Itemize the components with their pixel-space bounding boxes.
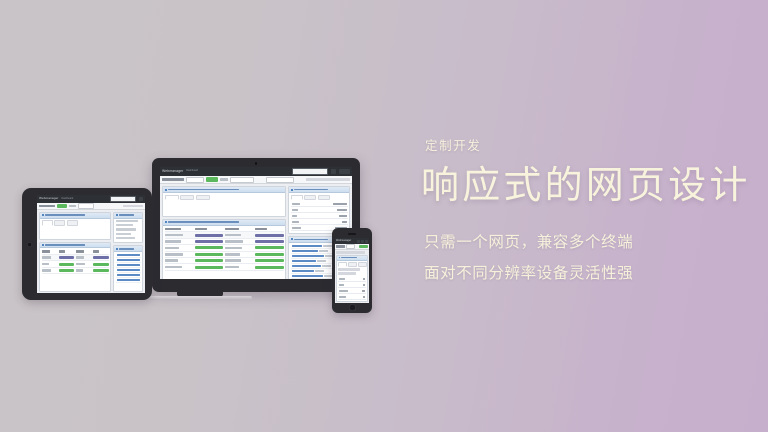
panel-title bbox=[294, 189, 328, 191]
subtitle-line-1: 只需一个网页，兼容多个终端 bbox=[424, 235, 768, 251]
td-label bbox=[42, 263, 57, 266]
activity-link bbox=[292, 265, 321, 267]
th-cell bbox=[225, 228, 253, 231]
activity-link bbox=[117, 259, 140, 261]
desktop-monitor-mockup: Webmanager Dashboard bbox=[152, 158, 360, 292]
td-status bbox=[93, 256, 108, 259]
summary-panel-body bbox=[163, 193, 285, 216]
panel-title bbox=[119, 248, 134, 250]
detail-value bbox=[333, 203, 347, 205]
detail-label bbox=[339, 290, 348, 292]
detail-row bbox=[116, 237, 135, 239]
device-mockup-group: Webmanager Dashboard bbox=[0, 0, 400, 432]
tab-info[interactable] bbox=[291, 195, 303, 201]
th-cell bbox=[255, 228, 283, 231]
th-cell bbox=[165, 228, 193, 231]
tab-details[interactable] bbox=[54, 220, 65, 226]
td-status bbox=[255, 266, 283, 269]
detail-value bbox=[339, 215, 347, 217]
main-column bbox=[162, 186, 286, 279]
phone-panel-body bbox=[337, 261, 367, 302]
panel-icon bbox=[291, 238, 293, 240]
phone-panel bbox=[336, 255, 368, 303]
monitor-stand-base bbox=[148, 296, 252, 300]
summary-tabs bbox=[165, 195, 284, 201]
panel-icon bbox=[165, 221, 167, 223]
tab-history[interactable] bbox=[196, 195, 210, 201]
td-label bbox=[76, 269, 91, 272]
desktop-toolbar bbox=[160, 176, 352, 184]
filter-field-3[interactable] bbox=[266, 177, 294, 183]
td-status bbox=[195, 266, 223, 269]
detail-value bbox=[337, 209, 347, 211]
detail-label bbox=[292, 203, 300, 205]
tab-history[interactable] bbox=[358, 262, 367, 267]
phone-dashboard-screen: Webmanager bbox=[335, 238, 369, 303]
eyebrow-label: 定制开发 bbox=[425, 140, 768, 153]
toolbar-label bbox=[69, 205, 76, 208]
td-status bbox=[59, 256, 74, 259]
th-cell bbox=[195, 228, 223, 231]
filter-field-1[interactable] bbox=[186, 177, 204, 183]
phone-mockup: Webmanager bbox=[332, 228, 372, 313]
earpiece-speaker-icon bbox=[348, 233, 356, 235]
filter-field-1[interactable] bbox=[78, 203, 94, 209]
desktop-dashboard-screen: Webmanager Dashboard bbox=[160, 167, 352, 279]
phone-content bbox=[335, 250, 369, 303]
td-status bbox=[255, 234, 283, 237]
td-label bbox=[165, 247, 193, 250]
td-label bbox=[165, 234, 193, 237]
search-input[interactable] bbox=[110, 196, 136, 203]
marketing-copy-block: 定制开发 响应式的网页设计 只需一个网页，兼容多个终端 面对不同分辨率设备灵活性… bbox=[421, 140, 768, 298]
phone-tabs bbox=[338, 262, 366, 267]
status-table-panel bbox=[39, 242, 111, 293]
filter-field-1[interactable] bbox=[346, 244, 355, 249]
td-label bbox=[225, 259, 253, 262]
summary-tabs bbox=[42, 220, 109, 226]
notifications-icon[interactable] bbox=[361, 240, 364, 243]
toolbar-status-text bbox=[123, 205, 143, 208]
tablet-toolbar bbox=[37, 203, 145, 210]
activity-meta bbox=[323, 245, 332, 247]
detail-label bbox=[339, 284, 344, 286]
filter-field-2[interactable] bbox=[230, 177, 254, 183]
detail-label bbox=[292, 221, 299, 223]
tab-logs[interactable] bbox=[304, 195, 316, 201]
detail-label bbox=[339, 278, 345, 280]
activity-item[interactable] bbox=[116, 278, 141, 283]
td-label bbox=[42, 269, 57, 272]
tab-history[interactable] bbox=[67, 220, 78, 226]
td-status bbox=[93, 269, 108, 272]
toolbar-breadcrumb[interactable] bbox=[162, 178, 184, 181]
app-brand-label: Webmanager bbox=[39, 197, 59, 200]
activity-link bbox=[292, 245, 322, 247]
td-label bbox=[225, 234, 253, 237]
toolbar-status-text bbox=[306, 178, 350, 181]
main-column bbox=[39, 212, 111, 292]
detail-label bbox=[292, 215, 297, 217]
activity-link bbox=[292, 250, 318, 252]
status-table-body bbox=[40, 248, 110, 275]
status-table-body bbox=[163, 226, 285, 272]
app-brand-label: Webmanager bbox=[162, 170, 183, 173]
panel-icon bbox=[116, 214, 118, 216]
panel-icon bbox=[291, 189, 293, 191]
detail-row bbox=[116, 220, 138, 222]
td-label bbox=[165, 266, 193, 269]
status-table-panel bbox=[162, 219, 286, 280]
tab-details[interactable] bbox=[180, 195, 194, 201]
webcam-icon bbox=[255, 162, 258, 165]
phone-row-line bbox=[338, 272, 356, 275]
panel-title bbox=[168, 221, 239, 223]
panel-title bbox=[45, 214, 85, 216]
user-menu-button[interactable] bbox=[139, 197, 143, 201]
activity-meta bbox=[322, 265, 331, 267]
panel-icon bbox=[165, 189, 167, 191]
table-row[interactable] bbox=[42, 268, 109, 274]
activity-link bbox=[292, 255, 324, 257]
detail-label bbox=[292, 209, 298, 211]
phone-form-row bbox=[338, 294, 366, 300]
detail-row bbox=[116, 233, 132, 235]
details-panel-body bbox=[289, 193, 349, 233]
subtitle-line-2: 面对不同分辨率设备灵活性强 bbox=[424, 266, 768, 282]
activity-link bbox=[117, 254, 140, 256]
activity-meta bbox=[315, 270, 324, 272]
panel-title bbox=[341, 257, 357, 259]
details-panel bbox=[113, 212, 143, 243]
menu-icon[interactable] bbox=[365, 240, 368, 243]
td-status bbox=[195, 246, 223, 249]
td-status bbox=[255, 259, 283, 262]
tablet-dashboard-screen: Webmanager Dashboard bbox=[37, 195, 145, 293]
td-status bbox=[195, 240, 223, 243]
tab-overview[interactable] bbox=[165, 195, 179, 201]
activity-link bbox=[117, 264, 140, 266]
detail-value bbox=[342, 221, 347, 223]
activity-link bbox=[117, 269, 140, 271]
detail-value bbox=[363, 296, 365, 298]
activity-link bbox=[292, 275, 323, 277]
td-status bbox=[93, 263, 108, 266]
detail-label bbox=[292, 227, 301, 229]
td-label bbox=[165, 259, 193, 262]
table-row[interactable] bbox=[165, 264, 284, 270]
activity-link bbox=[117, 279, 140, 281]
th-cell bbox=[93, 250, 108, 253]
primary-action-button[interactable] bbox=[206, 177, 218, 182]
phone-row-line bbox=[338, 268, 360, 271]
detail-value bbox=[363, 284, 365, 286]
details-tabs bbox=[291, 195, 348, 201]
td-status bbox=[255, 246, 283, 249]
activity-panel-body bbox=[114, 252, 142, 284]
tab-overview[interactable] bbox=[42, 220, 53, 226]
td-label bbox=[225, 247, 253, 250]
tablet-mockup: Webmanager Dashboard bbox=[22, 188, 152, 300]
details-panel-body bbox=[114, 219, 142, 243]
th-cell bbox=[59, 250, 74, 253]
th-cell bbox=[76, 250, 91, 253]
tab-config[interactable] bbox=[318, 195, 330, 201]
detail-row bbox=[116, 228, 136, 230]
panel-title bbox=[294, 239, 328, 241]
nav-item-dashboard[interactable]: Dashboard bbox=[62, 198, 74, 200]
primary-action-button[interactable] bbox=[359, 245, 368, 249]
activity-panel bbox=[113, 245, 143, 292]
panel-icon bbox=[42, 244, 44, 246]
home-button-icon[interactable] bbox=[27, 242, 32, 247]
td-status bbox=[59, 269, 74, 272]
detail-label bbox=[339, 296, 346, 298]
th-cell bbox=[42, 250, 57, 253]
notifications-icon[interactable] bbox=[331, 169, 336, 174]
detail-row bbox=[116, 224, 134, 226]
summary-panel-body bbox=[40, 219, 110, 239]
toolbar-breadcrumb[interactable] bbox=[336, 245, 345, 248]
tab-details[interactable] bbox=[348, 262, 357, 267]
td-label bbox=[76, 263, 91, 266]
side-column bbox=[113, 212, 143, 292]
home-button-icon[interactable] bbox=[349, 304, 356, 311]
panel-title bbox=[119, 214, 134, 216]
td-label bbox=[225, 240, 253, 243]
app-brand-label: Webmanager bbox=[336, 240, 351, 242]
panel-title bbox=[168, 189, 239, 191]
tablet-navbar: Webmanager Dashboard bbox=[37, 195, 145, 203]
search-icon[interactable] bbox=[357, 240, 360, 243]
activity-meta bbox=[319, 250, 328, 252]
td-label bbox=[165, 240, 193, 243]
page-title: 响应式的网页设计 bbox=[421, 167, 768, 205]
td-label bbox=[76, 256, 91, 259]
user-menu-button[interactable] bbox=[339, 169, 350, 174]
summary-panel bbox=[39, 212, 111, 240]
panel-title bbox=[45, 244, 85, 246]
panel-icon bbox=[116, 248, 118, 250]
search-input[interactable] bbox=[292, 168, 328, 175]
activity-link bbox=[117, 274, 140, 276]
td-status bbox=[195, 253, 223, 256]
toolbar-label bbox=[220, 178, 228, 181]
td-status bbox=[255, 253, 283, 256]
tab-overview[interactable] bbox=[338, 262, 347, 267]
td-status bbox=[255, 240, 283, 243]
td-label bbox=[42, 256, 57, 259]
desktop-content-columns bbox=[160, 184, 352, 279]
activity-link bbox=[292, 260, 316, 262]
panel-icon bbox=[42, 214, 44, 216]
td-status bbox=[59, 263, 74, 266]
nav-item-dashboard[interactable]: Dashboard bbox=[186, 170, 198, 172]
td-label bbox=[225, 266, 253, 269]
activity-meta bbox=[317, 260, 326, 262]
summary-panel bbox=[162, 186, 286, 217]
panel-icon bbox=[339, 257, 341, 259]
td-label bbox=[165, 253, 193, 256]
details-panel bbox=[288, 186, 350, 234]
td-label bbox=[225, 253, 253, 256]
detail-value bbox=[362, 290, 365, 292]
phone-status-line bbox=[336, 251, 365, 254]
tablet-content-columns bbox=[37, 210, 145, 293]
td-status bbox=[195, 259, 223, 262]
primary-action-button[interactable] bbox=[57, 204, 67, 208]
td-status bbox=[195, 234, 223, 237]
detail-value bbox=[363, 278, 365, 280]
banner-canvas: Webmanager Dashboard bbox=[0, 0, 768, 432]
toolbar-breadcrumb[interactable] bbox=[39, 205, 55, 208]
desktop-navbar: Webmanager Dashboard bbox=[160, 167, 352, 176]
activity-link bbox=[292, 270, 314, 272]
